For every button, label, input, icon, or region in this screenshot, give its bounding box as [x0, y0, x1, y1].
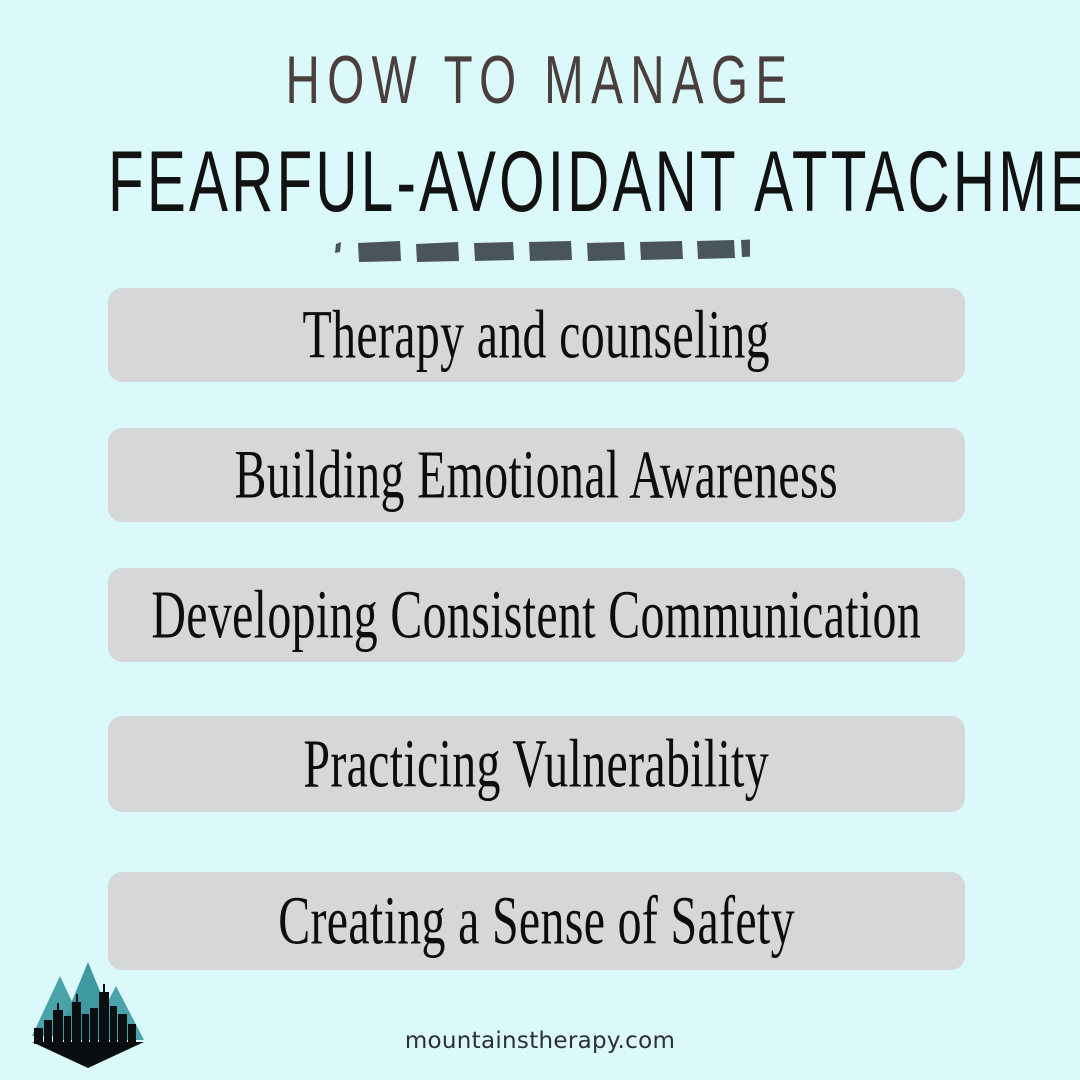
headline-line-2: FEARFUL-AVOIDANT ATTACHMENT	[108, 139, 972, 225]
footer: mountainstherapy.com	[0, 1028, 1080, 1054]
list-item-label: Developing Consistent Communication	[152, 581, 922, 649]
logo	[18, 958, 158, 1076]
website-url: mountainstherapy.com	[405, 1028, 675, 1054]
list-item[interactable]: Therapy and counseling	[108, 288, 965, 382]
list-item-label: Creating a Sense of Safety	[278, 887, 795, 955]
list-item-label: Building Emotional Awareness	[235, 441, 838, 509]
list-item[interactable]: Practicing Vulnerability	[108, 716, 965, 812]
list-item[interactable]: Building Emotional Awareness	[108, 428, 965, 522]
dashed-rectangle-divider-icon	[330, 230, 750, 270]
divider	[0, 230, 1080, 276]
mountain-city-logo-icon	[18, 958, 158, 1076]
list-item-label: Practicing Vulnerability	[304, 730, 770, 798]
list-item[interactable]: Creating a Sense of Safety	[108, 872, 965, 970]
infographic-poster: HOW TO MANAGE FEARFUL-AVOIDANT ATTACHMEN…	[0, 0, 1080, 1080]
headline-line-1: HOW TO MANAGE	[97, 46, 983, 115]
list-item-label: Therapy and counseling	[303, 301, 770, 369]
list-item[interactable]: Developing Consistent Communication	[108, 568, 965, 662]
headline-block: HOW TO MANAGE FEARFUL-AVOIDANT ATTACHMEN…	[0, 46, 1080, 212]
